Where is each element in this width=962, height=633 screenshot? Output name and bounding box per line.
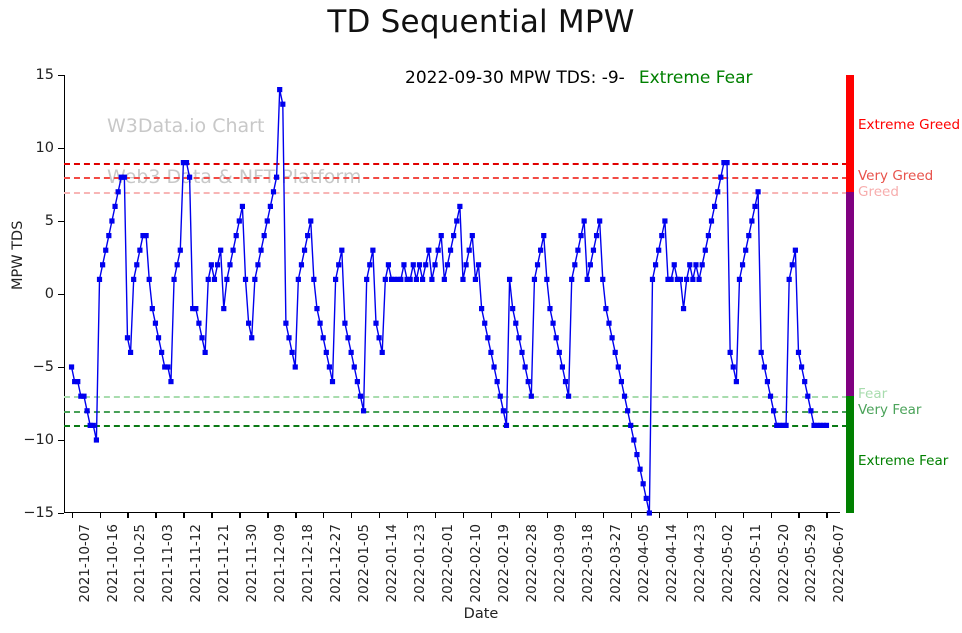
series-marker: [588, 262, 593, 267]
series-marker: [234, 233, 239, 238]
series-marker: [572, 262, 577, 267]
series-marker: [805, 394, 810, 399]
series-marker: [687, 262, 692, 267]
series-marker: [594, 233, 599, 238]
series-marker: [432, 262, 437, 267]
series-marker: [790, 262, 795, 267]
series-marker: [650, 277, 655, 282]
zone-label-very-greed: Very Greed: [858, 168, 933, 184]
series-marker: [700, 262, 705, 267]
series-marker: [637, 467, 642, 472]
series-marker: [171, 277, 176, 282]
series-marker: [237, 218, 242, 223]
series-marker: [600, 277, 605, 282]
x-tick-label: 2021-11-03: [160, 524, 176, 602]
series-marker: [299, 262, 304, 267]
series-marker: [429, 277, 434, 282]
x-tick-label: 2022-02-28: [524, 524, 540, 602]
series-marker: [262, 233, 267, 238]
series-marker: [743, 248, 748, 253]
series-marker: [473, 277, 478, 282]
series-marker: [491, 364, 496, 369]
series-marker: [265, 218, 270, 223]
series-marker: [280, 102, 285, 107]
zone-segment-extreme-greed: [846, 75, 854, 192]
y-tick-label: −5: [33, 359, 54, 375]
series-marker: [482, 321, 487, 326]
zone-label-very-fear: Very Fear: [858, 402, 921, 418]
series-marker: [165, 364, 170, 369]
series-marker: [283, 321, 288, 326]
series-marker: [215, 262, 220, 267]
series-marker: [370, 248, 375, 253]
x-tick-label: 2022-04-05: [636, 524, 652, 602]
x-tick-label: 2022-05-20: [776, 524, 792, 602]
x-tick-label: 2022-02-19: [496, 524, 512, 602]
series-marker: [305, 233, 310, 238]
series-marker: [144, 233, 149, 238]
series-marker: [690, 277, 695, 282]
series-marker: [286, 335, 291, 340]
x-tick-label: 2021-11-12: [188, 524, 204, 602]
series-marker: [150, 306, 155, 311]
x-tick-label: 2022-05-11: [748, 524, 764, 602]
series-marker: [199, 335, 204, 340]
series-marker: [824, 423, 829, 428]
series-marker: [417, 262, 422, 267]
zone-label-fear: Fear: [858, 386, 887, 402]
x-tick-label: 2021-12-18: [300, 524, 316, 602]
series-marker: [749, 218, 754, 223]
series-marker: [470, 233, 475, 238]
series-marker: [184, 160, 189, 165]
series-marker: [613, 350, 618, 355]
series-marker: [361, 408, 366, 413]
series-marker: [724, 160, 729, 165]
series-marker: [463, 262, 468, 267]
series-marker: [324, 350, 329, 355]
series-marker: [106, 233, 111, 238]
series-marker: [715, 189, 720, 194]
series-marker: [759, 350, 764, 355]
series-marker: [314, 306, 319, 311]
series-marker: [616, 364, 621, 369]
series-marker: [327, 364, 332, 369]
series-marker: [504, 423, 509, 428]
zone-label-greed: Greed: [858, 184, 899, 200]
series-marker: [510, 306, 515, 311]
series-marker: [526, 379, 531, 384]
series-marker: [460, 277, 465, 282]
series-marker: [364, 277, 369, 282]
series-marker: [709, 218, 714, 223]
series-marker: [578, 233, 583, 238]
series-marker: [678, 277, 683, 282]
series-marker: [488, 350, 493, 355]
series-marker: [550, 321, 555, 326]
series-marker: [768, 394, 773, 399]
series-marker: [156, 335, 161, 340]
x-tick-label: 2022-05-02: [720, 524, 736, 602]
y-tick-label: 15: [36, 67, 54, 83]
x-tick-label: 2021-11-21: [216, 524, 232, 602]
series-marker: [507, 277, 512, 282]
series-marker: [411, 262, 416, 267]
y-tick-label: 5: [45, 213, 54, 229]
series-marker: [196, 321, 201, 326]
series-marker: [414, 277, 419, 282]
series-marker: [128, 350, 133, 355]
x-tick-label: 2022-01-05: [356, 524, 372, 602]
series-marker: [783, 423, 788, 428]
series-marker: [122, 175, 127, 180]
series-marker: [81, 394, 86, 399]
series-marker: [436, 248, 441, 253]
x-tick-label: 2021-10-16: [105, 524, 121, 602]
x-tick-label: 2021-12-27: [328, 524, 344, 602]
series-marker: [498, 394, 503, 399]
series-marker: [380, 350, 385, 355]
series-line: [72, 90, 827, 513]
series-marker: [628, 423, 633, 428]
series-marker: [206, 277, 211, 282]
series-marker: [398, 277, 403, 282]
series-marker: [737, 277, 742, 282]
series-marker: [426, 248, 431, 253]
series-marker: [255, 262, 260, 267]
series-marker: [802, 379, 807, 384]
plot-area: −15−10−5051015 2021-10-072021-10-162021-…: [64, 75, 840, 513]
x-tick-label: 2022-06-07: [831, 524, 847, 602]
x-tick-label: 2021-11-30: [244, 524, 260, 602]
series-marker: [703, 248, 708, 253]
series-marker: [187, 175, 192, 180]
series-marker: [311, 277, 316, 282]
series-marker: [227, 262, 232, 267]
series-marker: [582, 218, 587, 223]
series-marker: [793, 248, 798, 253]
page-title: TD Sequential MPW: [0, 4, 962, 40]
series-marker: [560, 364, 565, 369]
series-marker: [333, 277, 338, 282]
series-marker: [634, 452, 639, 457]
zone-label-extreme-greed: Extreme Greed: [858, 117, 960, 133]
series-marker: [193, 306, 198, 311]
series-marker: [532, 277, 537, 282]
series-marker: [258, 248, 263, 253]
series-marker: [103, 248, 108, 253]
series-marker: [131, 277, 136, 282]
series-marker: [619, 379, 624, 384]
y-tick-label: 10: [36, 140, 54, 156]
series-marker: [622, 394, 627, 399]
series-marker: [467, 248, 472, 253]
series-marker: [740, 262, 745, 267]
series-marker: [538, 248, 543, 253]
series-marker: [706, 233, 711, 238]
series-marker: [771, 408, 776, 413]
series-marker: [516, 335, 521, 340]
series-marker: [653, 262, 658, 267]
series-marker: [383, 277, 388, 282]
series-marker: [401, 262, 406, 267]
series-marker: [212, 277, 217, 282]
series-marker: [271, 189, 276, 194]
series-marker: [296, 277, 301, 282]
series-marker: [367, 262, 372, 267]
series-marker: [342, 321, 347, 326]
series-marker: [373, 321, 378, 326]
series-marker: [535, 262, 540, 267]
series-marker: [662, 218, 667, 223]
series-marker: [631, 437, 636, 442]
series-marker: [137, 248, 142, 253]
x-tick-label: 2022-05-29: [803, 524, 819, 602]
series-marker: [91, 423, 96, 428]
series-marker: [541, 233, 546, 238]
series-marker: [566, 394, 571, 399]
chart-page: TD Sequential MPW 2022-09-30 MPW TDS: -9…: [0, 0, 962, 633]
series-marker: [94, 437, 99, 442]
series-marker: [246, 321, 251, 326]
series-marker: [243, 277, 248, 282]
series-marker: [290, 350, 295, 355]
series-marker: [457, 204, 462, 209]
series-marker: [147, 277, 152, 282]
series-marker: [476, 262, 481, 267]
series-marker: [408, 277, 413, 282]
series-marker: [585, 277, 590, 282]
series-marker: [345, 335, 350, 340]
series-marker: [544, 277, 549, 282]
x-tick-label: 2022-02-10: [468, 524, 484, 602]
x-tick-label: 2022-01-23: [412, 524, 428, 602]
series-marker: [669, 277, 674, 282]
series-marker: [495, 379, 500, 384]
series-marker: [756, 189, 761, 194]
series-marker: [641, 481, 646, 486]
series-marker: [69, 364, 74, 369]
x-tick-label: 2022-04-14: [664, 524, 680, 602]
series-marker: [153, 321, 158, 326]
series-marker: [448, 248, 453, 253]
series-marker: [557, 350, 562, 355]
series-marker: [644, 496, 649, 501]
series-marker: [349, 350, 354, 355]
series-marker: [423, 262, 428, 267]
series-marker: [308, 218, 313, 223]
series-marker: [451, 233, 456, 238]
y-tick: [58, 513, 64, 514]
series-marker: [693, 262, 698, 267]
series-marker: [479, 306, 484, 311]
series-marker: [209, 262, 214, 267]
series-marker: [116, 189, 121, 194]
y-tick-label: −15: [23, 505, 54, 521]
series-marker: [734, 379, 739, 384]
series-marker: [321, 335, 326, 340]
series-marker: [569, 277, 574, 282]
series-marker: [752, 204, 757, 209]
x-tick-label: 2022-01-14: [384, 524, 400, 602]
series-marker: [240, 204, 245, 209]
series-marker: [681, 306, 686, 311]
series-marker: [442, 277, 447, 282]
series-marker: [762, 364, 767, 369]
series-marker: [696, 277, 701, 282]
x-axis-title: Date: [0, 606, 962, 622]
series-marker: [625, 408, 630, 413]
x-tick-label: 2021-10-25: [132, 524, 148, 602]
zone-segment-neutral: [846, 192, 854, 396]
series-marker: [75, 379, 80, 384]
series-marker: [728, 350, 733, 355]
series-marker: [445, 262, 450, 267]
series-marker: [84, 408, 89, 413]
series-marker: [159, 350, 164, 355]
series-marker: [731, 364, 736, 369]
series-marker: [684, 277, 689, 282]
series-marker: [252, 277, 257, 282]
series-marker: [439, 233, 444, 238]
series-marker: [718, 175, 723, 180]
x-tick-label: 2022-04-23: [692, 524, 708, 602]
series-marker: [249, 335, 254, 340]
x-tick-label: 2022-03-18: [580, 524, 596, 602]
series-marker: [358, 394, 363, 399]
series-marker: [221, 306, 226, 311]
series-marker: [112, 204, 117, 209]
series-marker: [787, 277, 792, 282]
series-marker: [547, 306, 552, 311]
series-marker: [603, 306, 608, 311]
series-marker: [420, 277, 425, 282]
series-marker: [386, 262, 391, 267]
series-marker: [175, 262, 180, 267]
x-tick-label: 2022-03-09: [552, 524, 568, 602]
series-marker: [330, 379, 335, 384]
series-marker: [97, 277, 102, 282]
series-marker: [609, 335, 614, 340]
series-marker: [230, 248, 235, 253]
tds-series-plot: [64, 75, 840, 513]
series-marker: [591, 248, 596, 253]
series-marker: [529, 394, 534, 399]
series-marker: [134, 262, 139, 267]
series-marker: [647, 510, 652, 515]
series-marker: [606, 321, 611, 326]
series-marker: [765, 379, 770, 384]
series-marker: [100, 262, 105, 267]
series-marker: [339, 248, 344, 253]
series-marker: [746, 233, 751, 238]
series-marker: [317, 321, 322, 326]
series-marker: [597, 218, 602, 223]
series-marker: [178, 248, 183, 253]
series-marker: [519, 350, 524, 355]
series-marker: [796, 350, 801, 355]
series-marker: [274, 175, 279, 180]
series-marker: [377, 335, 382, 340]
series-marker: [808, 408, 813, 413]
x-tick-label: 2022-02-01: [440, 524, 456, 602]
series-marker: [454, 218, 459, 223]
series-marker: [268, 204, 273, 209]
x-tick-label: 2021-10-07: [77, 524, 93, 602]
series-marker: [355, 379, 360, 384]
series-marker: [224, 277, 229, 282]
zone-label-extreme-fear: Extreme Fear: [858, 453, 948, 469]
series-marker: [513, 321, 518, 326]
x-tick-label: 2022-03-27: [608, 524, 624, 602]
series-marker: [125, 335, 130, 340]
series-marker: [799, 364, 804, 369]
series-marker: [352, 364, 357, 369]
y-tick-label: −10: [23, 432, 54, 448]
x-tick-label: 2021-12-09: [272, 524, 288, 602]
series-marker: [501, 408, 506, 413]
series-marker: [563, 379, 568, 384]
series-marker: [523, 364, 528, 369]
series-marker: [575, 248, 580, 253]
zone-segment-extreme-fear: [846, 396, 854, 513]
series-marker: [485, 335, 490, 340]
series-marker: [218, 248, 223, 253]
series-marker: [336, 262, 341, 267]
series-marker: [168, 379, 173, 384]
series-marker: [554, 335, 559, 340]
series-marker: [277, 87, 282, 92]
y-axis-title: MPW TDS: [10, 221, 26, 290]
series-marker: [293, 364, 298, 369]
series-marker: [712, 204, 717, 209]
series-marker: [659, 233, 664, 238]
series-marker: [302, 248, 307, 253]
y-tick-label: 0: [45, 286, 54, 302]
series-marker: [656, 248, 661, 253]
series-marker: [203, 350, 208, 355]
series-marker: [109, 218, 114, 223]
series-marker: [672, 262, 677, 267]
